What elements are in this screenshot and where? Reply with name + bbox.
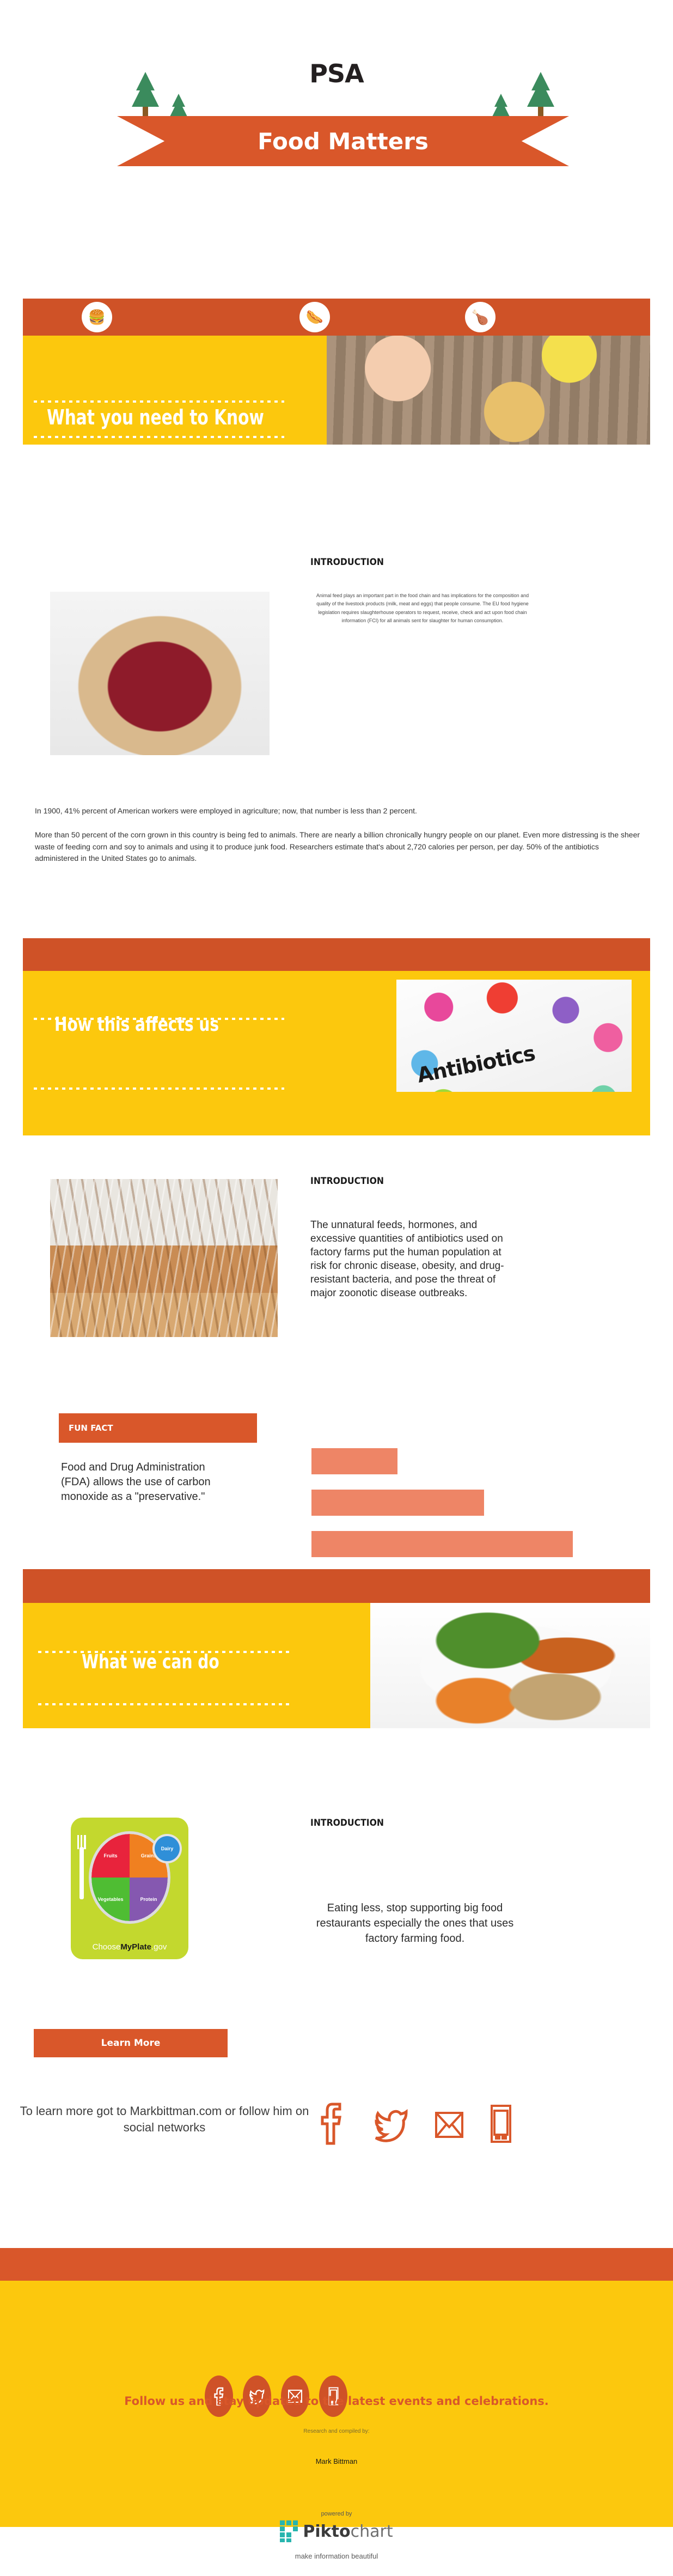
section3-title: What we can do: [82, 1651, 219, 1673]
fun-fact-body: Food and Drug Administration (FDA) allow…: [61, 1460, 224, 1505]
myplate-brand: ChooseMyPlate.gov: [71, 1942, 188, 1952]
section2-yellow-panel-lower: [23, 1092, 650, 1135]
piktochart-wordmark: Piktochart: [303, 2522, 393, 2541]
hotdog-icon: 🌭: [299, 302, 330, 332]
healthy-plate-salmon-rice-photo: [370, 1603, 650, 1728]
section1-title: What you need to Know: [47, 405, 264, 429]
fun-fact-badge: FUN FACT: [59, 1413, 257, 1443]
twitter-icon[interactable]: [375, 2106, 408, 2142]
section2-title: How this affects us: [54, 1013, 219, 1036]
myplate-dairy-label: Dairy: [155, 1836, 180, 1861]
bar-chart-bar: [311, 1490, 484, 1516]
myplate-brand-strong: MyPlate: [120, 1942, 151, 1952]
myplate-graphic: Fruits Grains Vegetables Protein Dairy C…: [71, 1818, 188, 1959]
header: PSA Food Matters: [0, 0, 673, 240]
piktochart-tagline: make information beautiful: [0, 2552, 673, 2560]
learn-more-body: To learn more got to Markbittman.com or …: [19, 2103, 310, 2136]
factory-farm-poultry-photo: [50, 1179, 278, 1337]
roast-turkey-icon: 🍗: [465, 302, 495, 332]
bar-chart: [311, 1448, 573, 1557]
antibiotics-photo-word: Antibiotics: [415, 1024, 623, 1087]
piktochart-mark-icon: [280, 2520, 298, 2542]
intro2-heading: INTRODUCTION: [310, 1176, 384, 1187]
psa-label: PSA: [0, 59, 673, 88]
section3-orange-bar: [23, 1569, 650, 1603]
myplate-protein-label: Protein: [130, 1878, 168, 1921]
learn-more-button[interactable]: Learn More: [34, 2029, 228, 2057]
piktochart-brand-light: chart: [351, 2522, 393, 2541]
myplate-fruits-label: Fruits: [91, 1834, 130, 1878]
footer-orange-bar: [0, 2248, 673, 2281]
powered-by-label: powered by: [0, 2511, 673, 2517]
bar-chart-bar: [311, 1531, 573, 1557]
section3-dotted-rule-bottom: [38, 1703, 290, 1705]
myplate-brand-prefix: Choose: [93, 1942, 121, 1952]
intro1-body: Animal feed plays an important part in t…: [315, 592, 530, 625]
intro3-heading: INTRODUCTION: [310, 1818, 384, 1828]
bar-chart-bar: [311, 1448, 397, 1474]
piktochart-brand-bold: Pikto: [303, 2522, 350, 2541]
footer-author: Mark Bittman: [0, 2457, 673, 2465]
piktochart-logo: Piktochart: [0, 2520, 673, 2542]
footer-tagline: Follow us and stay updated to the latest…: [0, 2395, 673, 2408]
section2-dotted-rule-bottom: [34, 1087, 284, 1090]
page-title: Food Matters: [117, 116, 569, 166]
section1-dotted-rule: [34, 400, 284, 403]
bitten-apple-world-map-photo: [50, 592, 270, 755]
section2-orange-bar: [23, 938, 650, 971]
table-of-food-photo: [327, 336, 650, 445]
myplate-brand-suffix: .gov: [151, 1942, 167, 1952]
intro1-heading: INTRODUCTION: [310, 557, 384, 568]
intro3-body: Eating less, stop supporting big food re…: [314, 1900, 516, 1946]
facebook-icon[interactable]: [316, 2101, 348, 2147]
email-icon[interactable]: [435, 2111, 464, 2139]
intro2-body: The unnatural feeds, hormones, and exces…: [310, 1218, 513, 1300]
fork-icon: [79, 1847, 84, 1899]
myplate-vegetables-label: Vegetables: [91, 1878, 130, 1921]
stats-paragraph-2: More than 50 percent of the corn grown i…: [35, 829, 640, 865]
food-icon-bar: 🍔 🌭 🍗: [23, 299, 650, 336]
stats-paragraph-1: In 1900, 41% percent of American workers…: [35, 805, 640, 817]
mobile-phone-icon[interactable]: [490, 2104, 512, 2143]
section1-dotted-rule-bottom: [34, 436, 284, 438]
burger-icon: 🍔: [82, 302, 112, 332]
footer-credit-label: Research and compiled by:: [0, 2428, 673, 2434]
